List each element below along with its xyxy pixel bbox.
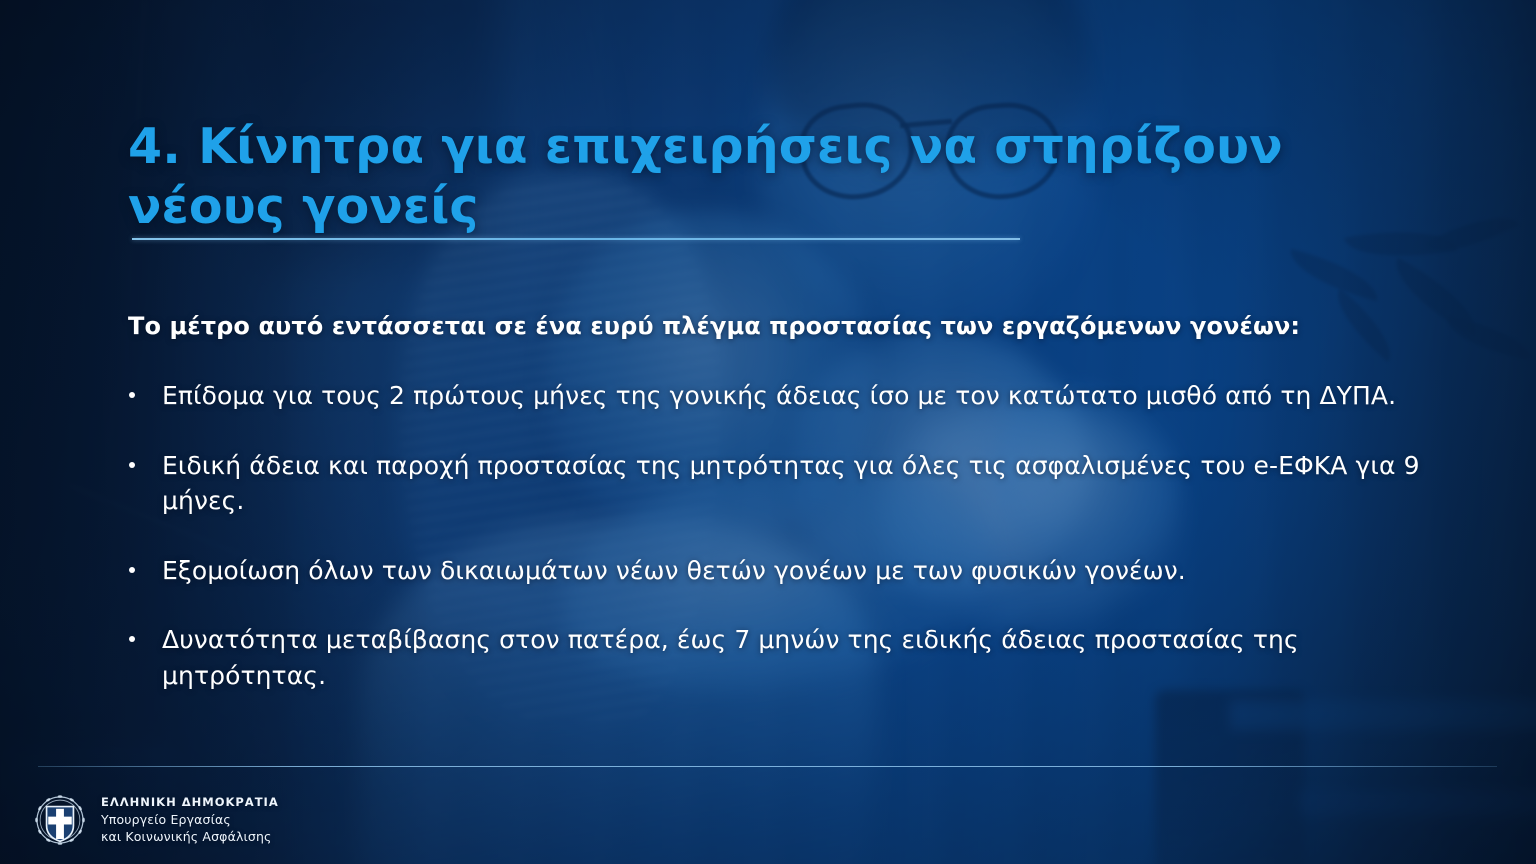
bullet-dot-icon [129, 462, 135, 468]
slide-content: 4. Κίνητρα για επιχειρήσεις να στηρίζουν… [0, 0, 1536, 864]
footer-line-republic: ΕΛΛΗΝΙΚΗ ΔΗΜΟΚΡΑΤΙΑ [101, 795, 279, 811]
footer-line-ministry-cont: και Κοινωνικής Ασφάλισης [101, 828, 279, 845]
slide-lead-text: Το μέτρο αυτό εντάσσεται σε ένα ευρύ πλέ… [128, 312, 1388, 340]
list-item-label: Ειδική άδεια και παροχή προστασίας της μ… [162, 451, 1420, 516]
footer-line-ministry: Υπουργείο Εργασίας [101, 811, 279, 828]
list-item-label: Εξομοίωση όλων των δικαιωμάτων νέων θετώ… [162, 556, 1186, 585]
list-item-label: Επίδομα για τους 2 πρώτους μήνες της γον… [162, 381, 1396, 410]
presentation-slide: 4. Κίνητρα για επιχειρήσεις να στηρίζουν… [0, 0, 1536, 864]
footer-divider [38, 766, 1497, 767]
list-item-label: Δυνατότητα μεταβίβασης στον πατέρα, έως … [162, 625, 1299, 690]
list-item: Δυνατότητα μεταβίβασης στον πατέρα, έως … [126, 622, 1426, 693]
bullet-list: Επίδομα για τους 2 πρώτους μήνες της γον… [126, 378, 1426, 693]
greek-coat-of-arms-icon [32, 792, 88, 848]
bullet-dot-icon [129, 392, 135, 398]
list-item: Ειδική άδεια και παροχή προστασίας της μ… [126, 448, 1426, 519]
bullet-dot-icon [129, 567, 135, 573]
list-item: Εξομοίωση όλων των δικαιωμάτων νέων θετώ… [126, 553, 1426, 589]
list-item: Επίδομα για τους 2 πρώτους μήνες της γον… [126, 378, 1426, 414]
footer-text-block: ΕΛΛΗΝΙΚΗ ΔΗΜΟΚΡΑΤΙΑ Υπουργείο Εργασίας κ… [101, 795, 279, 845]
slide-title: 4. Κίνητρα για επιχειρήσεις να στηρίζουν… [128, 117, 1308, 237]
title-divider [132, 238, 1020, 240]
footer-branding: ΕΛΛΗΝΙΚΗ ΔΗΜΟΚΡΑΤΙΑ Υπουργείο Εργασίας κ… [32, 792, 279, 848]
bullet-dot-icon [129, 636, 135, 642]
